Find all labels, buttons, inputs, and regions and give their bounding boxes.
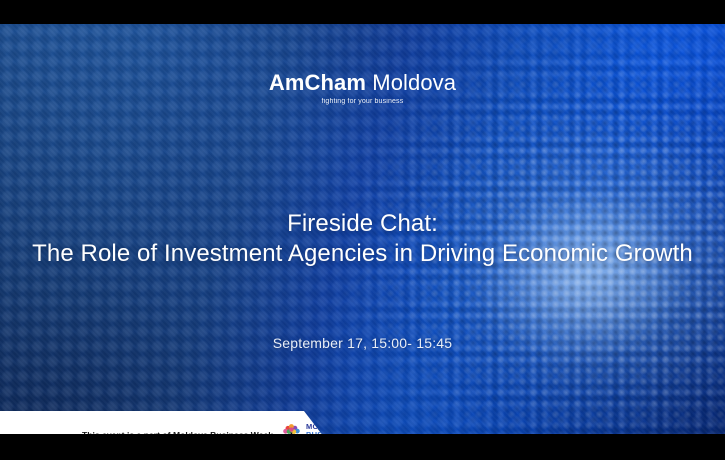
letterbox-bar-top	[0, 0, 725, 24]
event-schedule: September 17, 15:00- 15:45	[0, 335, 725, 351]
amcham-logo-wordmark: AmCham Moldova	[0, 72, 725, 94]
slide-artwork-canvas: AmCham Moldova fighting for your busines…	[0, 24, 725, 434]
footer-banner-content: This event is a part of Moldova Business…	[82, 411, 346, 434]
amcham-logo-bold-text: AmCham	[269, 70, 366, 95]
moldova-business-week-tree-icon	[282, 424, 301, 434]
event-title-line-2: The Role of Investment Agencies in Drivi…	[0, 239, 725, 269]
amcham-logo: AmCham Moldova fighting for your busines…	[0, 72, 725, 105]
amcham-logo-tagline: fighting for your business	[0, 98, 725, 105]
event-title: Fireside Chat: The Role of Investment Ag…	[0, 209, 725, 269]
presentation-slide: AmCham Moldova fighting for your busines…	[0, 0, 725, 460]
event-datetime: September 17, 15:00- 15:45	[0, 335, 725, 351]
event-title-line-1: Fireside Chat:	[0, 209, 725, 239]
amcham-logo-country-text: Moldova	[372, 70, 456, 95]
footer-banner: This event is a part of Moldova Business…	[0, 411, 340, 434]
letterbox-bar-bottom	[0, 434, 725, 460]
